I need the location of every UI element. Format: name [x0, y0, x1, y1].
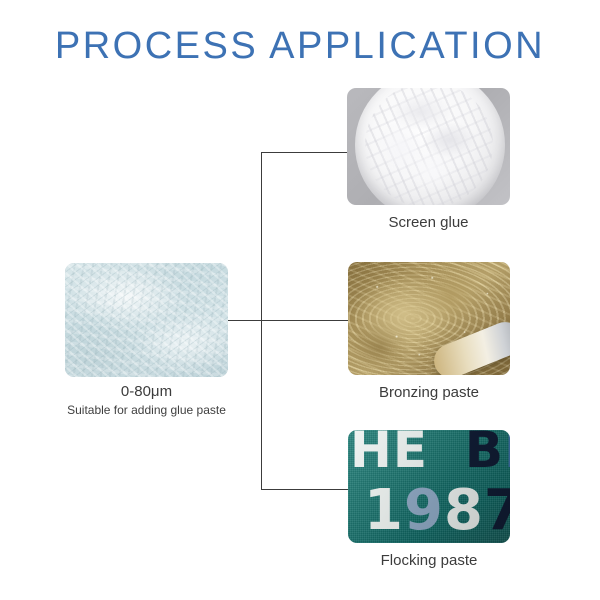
process-application-infographic: PROCESS APPLICATION 0-80μm Suitable for …: [0, 0, 600, 600]
connector-branch-bronzing-paste: [261, 320, 348, 321]
source-product-image: [65, 263, 228, 377]
screen-glue-image: [347, 88, 510, 205]
connector-branch-screen-glue: [261, 152, 348, 153]
flocking-paste-label: Flocking paste: [348, 550, 510, 572]
bronzing-paste-image: [348, 262, 510, 375]
glue-swirl-texture: [365, 88, 493, 205]
flocking-paste-image: HE BES 1987: [348, 430, 510, 543]
connector-branch-flocking-paste: [261, 489, 348, 490]
fabric-shading-layer: [348, 430, 510, 543]
screen-glue-label: Screen glue: [347, 212, 510, 234]
connector-stem: [228, 320, 262, 321]
source-size-label: 0-80μm: [65, 382, 228, 402]
page-title: PROCESS APPLICATION: [0, 24, 600, 68]
powder-texture-layer: [65, 263, 228, 377]
source-description: Suitable for adding glue paste: [45, 402, 248, 419]
bronzing-paste-label: Bronzing paste: [348, 382, 510, 404]
